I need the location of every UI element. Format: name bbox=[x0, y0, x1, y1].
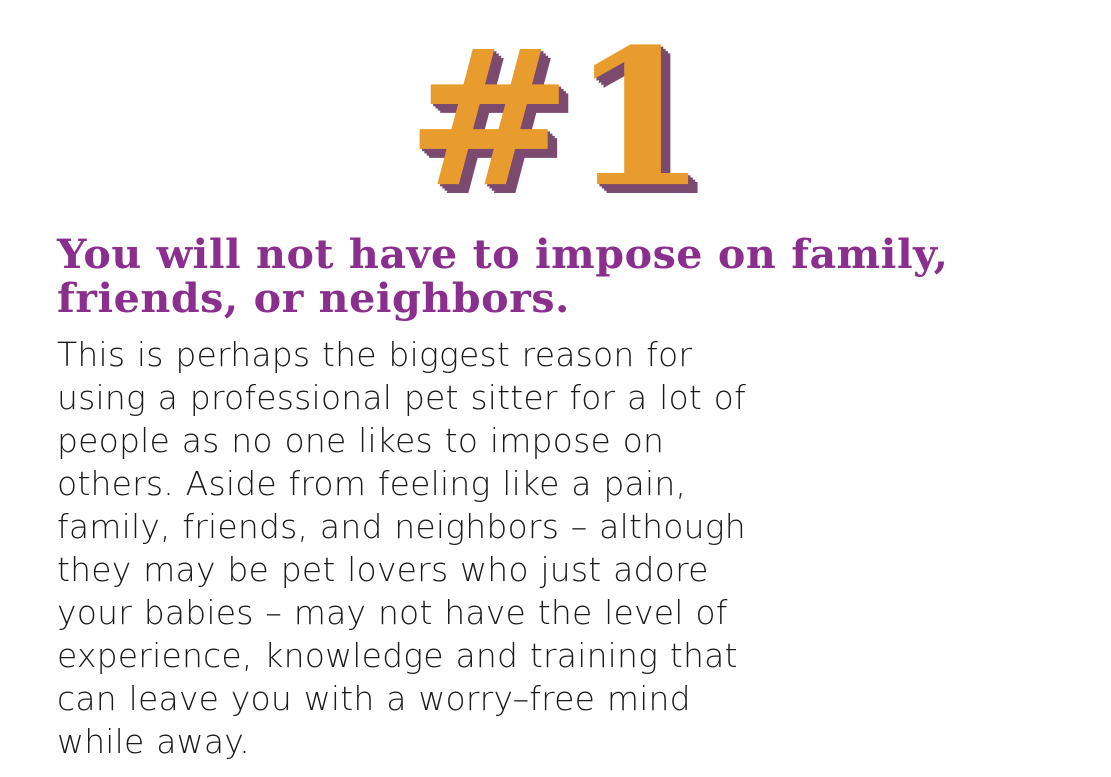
body-line: family, friends, and neighbors – althoug… bbox=[57, 505, 1057, 548]
body-line: your babies – may not have the level of bbox=[57, 591, 1057, 634]
headline-line-1: You will not have to impose on bbox=[57, 231, 776, 278]
body-line: can leave you with a worry–free mind bbox=[57, 677, 1057, 720]
body-line: while away. bbox=[57, 720, 1057, 763]
body-line: others. Aside from feeling like a pain, bbox=[57, 462, 1057, 505]
headline: You will not have to impose on family, f… bbox=[57, 233, 1097, 321]
body-line: using a professional pet sitter for a lo… bbox=[57, 376, 1057, 419]
slide-canvas: #1 You will not have to impose on family… bbox=[0, 0, 1111, 777]
body-paragraph: This is perhaps the biggest reason for u… bbox=[57, 333, 1057, 763]
rank-badge: #1 bbox=[0, 34, 1111, 202]
body-line: they may be pet lovers who just adore bbox=[57, 548, 1057, 591]
body-line: experience, knowledge and training that bbox=[57, 634, 1057, 677]
body-line: people as no one likes to impose on bbox=[57, 419, 1057, 462]
body-line: This is perhaps the biggest reason for bbox=[57, 333, 1057, 376]
rank-number-text: #1 bbox=[406, 24, 705, 212]
